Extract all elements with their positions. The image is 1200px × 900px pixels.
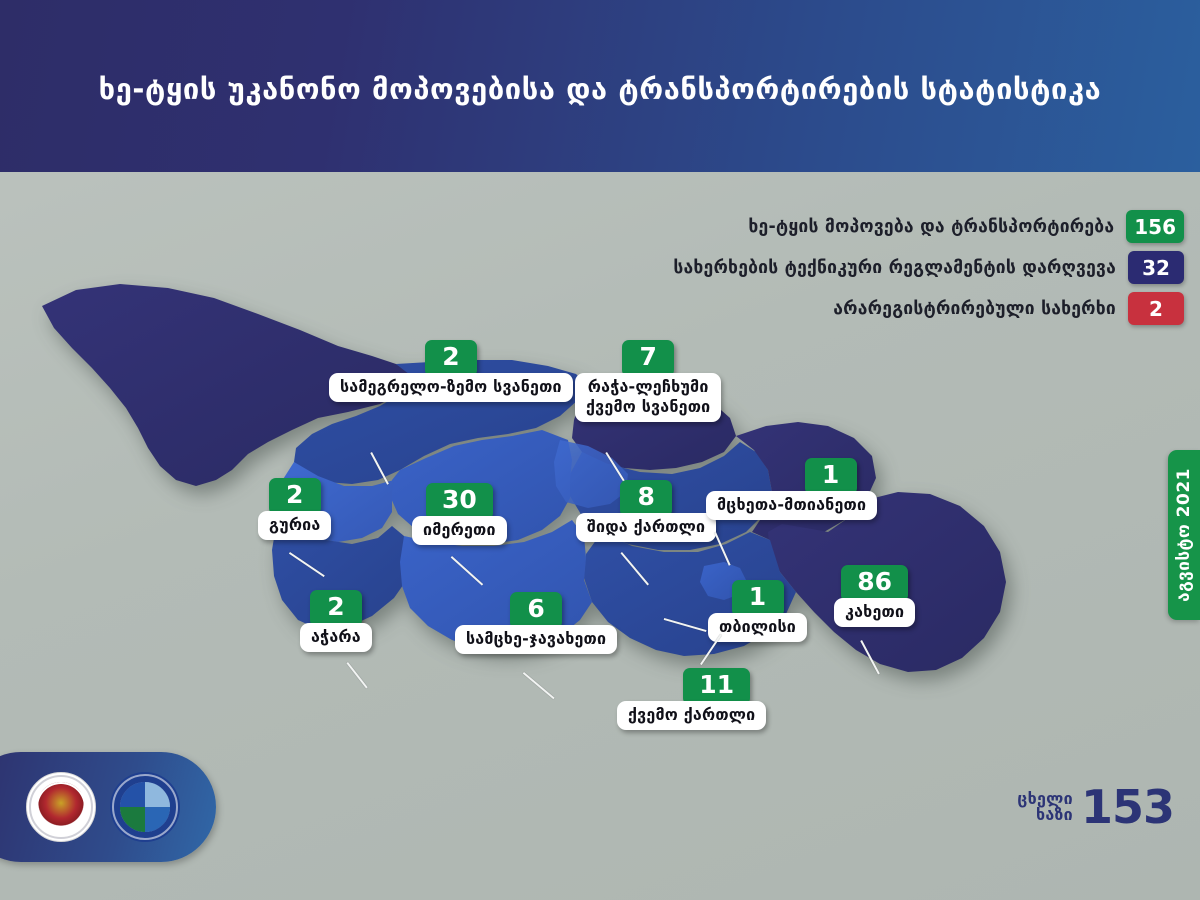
marker-label: გურია (258, 511, 331, 540)
hotline-line-2: ხაზი (1017, 807, 1073, 823)
legend-value-badge: 156 (1126, 210, 1184, 243)
hotline-words: ცხელი ხაზი (1017, 791, 1073, 824)
legend-label: სახერხების ტექნიკური რეგლამენტის დარღვევ… (673, 258, 1116, 278)
marker-label: რაჭა-ლეჩხუმი ქვემო სვანეთი (575, 373, 721, 422)
marker-shida-kartli[interactable]: 8 შიდა ქართლი (576, 480, 716, 542)
marker-racha-lechkhumi[interactable]: 7 რაჭა-ლეჩხუმი ქვემო სვანეთი (575, 340, 721, 422)
marker-tbilisi[interactable]: 1 თბილისი (708, 580, 807, 642)
hotline: ცხელი ხაზი 153 (1017, 786, 1174, 828)
marker-label: სამცხე-ჯავახეთი (455, 625, 617, 654)
logo-pill (0, 752, 216, 862)
header-banner: ხე-ტყის უკანონო მოპოვებისა და ტრანსპორტი… (0, 0, 1200, 172)
legend-row-unregistered-sawmill: არარეგისტრირებული სახერხი 2 (524, 292, 1184, 325)
month-tab: აგვისტო 2021 (1168, 450, 1200, 620)
legend-row-sawmill-regulation: სახერხების ტექნიკური რეგლამენტის დარღვევ… (524, 251, 1184, 284)
marker-value: 11 (683, 668, 750, 705)
legend: ხე-ტყის მოპოვება და ტრანსპორტირება 156 ს… (524, 210, 1184, 333)
marker-kvemo-kartli[interactable]: 11 ქვემო ქართლი (617, 668, 766, 730)
marker-label: შიდა ქართლი (576, 513, 716, 542)
marker-imereti[interactable]: 30 იმერეთი (412, 483, 507, 545)
marker-label: აჭარა (300, 623, 372, 652)
marker-label-line2: ქვემო სვანეთი (586, 397, 710, 416)
marker-value: 6 (510, 592, 562, 629)
marker-label: იმერეთი (412, 516, 507, 545)
marker-value: 30 (426, 483, 493, 520)
marker-value: 1 (732, 580, 784, 617)
seal-ring (112, 774, 178, 840)
marker-value: 86 (841, 565, 908, 602)
page-title: ხე-ტყის უკანონო მოპოვებისა და ტრანსპორტი… (99, 66, 1102, 106)
marker-label: მცხეთა-მთიანეთი (706, 491, 877, 520)
legend-value-badge: 2 (1128, 292, 1184, 325)
legend-label: ხე-ტყის მოპოვება და ტრანსპორტირება (748, 217, 1114, 237)
marker-guria[interactable]: 2 გურია (258, 478, 331, 540)
marker-value: 2 (269, 478, 321, 515)
legend-row-illegal-logging: ხე-ტყის მოპოვება და ტრანსპორტირება 156 (524, 210, 1184, 243)
month-tab-label: აგვისტო 2021 (1174, 468, 1194, 602)
infographic-canvas: ხე-ტყის უკანონო მოპოვებისა და ტრანსპორტი… (0, 0, 1200, 900)
marker-label: ქვემო ქართლი (617, 701, 766, 730)
marker-label: სამეგრელო-ზემო სვანეთი (329, 373, 573, 402)
marker-value: 2 (310, 590, 362, 627)
hotline-number: 153 (1081, 786, 1174, 828)
seal-ring (29, 775, 93, 839)
ministry-emblem-icon (26, 772, 96, 842)
marker-value: 1 (805, 458, 857, 495)
marker-mtskheta-mtianeti[interactable]: 1 მცხეთა-მთიანეთი (706, 458, 877, 520)
marker-value: 8 (620, 480, 672, 517)
marker-samegrelo-zemo-svaneti[interactable]: 2 სამეგრელო-ზემო სვანეთი (329, 340, 573, 402)
marker-ajara[interactable]: 2 აჭარა (300, 590, 372, 652)
marker-samtskhe-javakheti[interactable]: 6 სამცხე-ჯავახეთი (455, 592, 617, 654)
marker-value: 2 (425, 340, 477, 377)
marker-kakheti[interactable]: 86 კახეთი (834, 565, 915, 627)
environment-agency-emblem-icon (110, 772, 180, 842)
legend-value-badge: 32 (1128, 251, 1184, 284)
marker-value: 7 (622, 340, 674, 377)
marker-label: კახეთი (834, 598, 915, 627)
marker-label: თბილისი (708, 613, 807, 642)
legend-label: არარეგისტრირებული სახერხი (833, 299, 1116, 319)
marker-label-line1: რაჭა-ლეჩხუმი (588, 377, 709, 396)
